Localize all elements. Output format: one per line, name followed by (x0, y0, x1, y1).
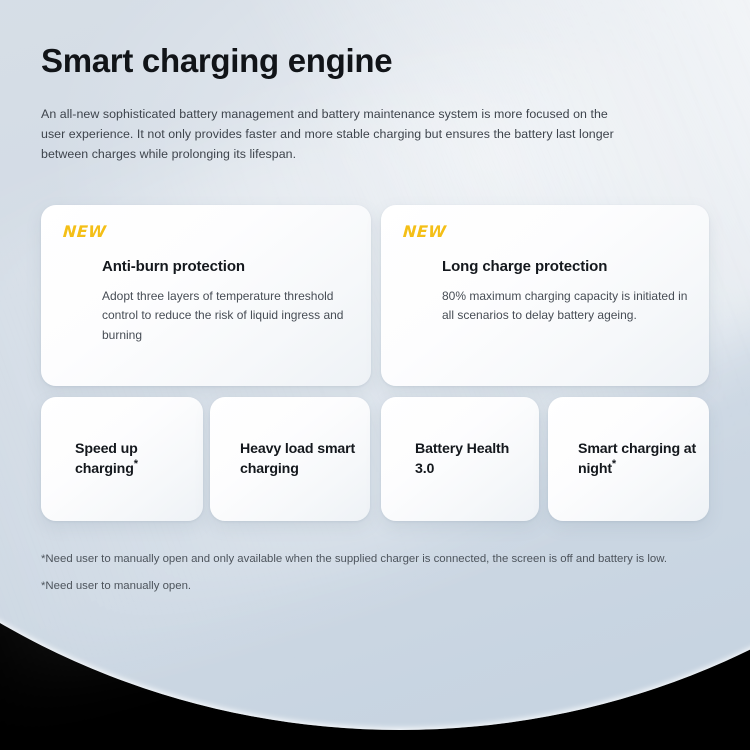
feature-card-description: 80% maximum charging capacity is initiat… (442, 287, 692, 326)
small-card-text: Battery Health 3.0 (415, 441, 509, 477)
small-card-heavy-load-smart-charging[interactable]: Heavy load smart charging (210, 397, 370, 521)
intro-paragraph: An all-new sophisticated battery managem… (41, 104, 621, 164)
small-card-label: Smart charging at night* (578, 439, 697, 479)
small-card-smart-charging-at-night[interactable]: Smart charging at night* (548, 397, 709, 521)
asterisk-marker: * (134, 458, 138, 470)
page-title: Smart charging engine (41, 43, 392, 80)
small-card-text: Smart charging at night (578, 441, 696, 477)
small-card-label: Speed up charging* (75, 439, 191, 479)
feature-card-description: Adopt three layers of temperature thresh… (102, 287, 352, 345)
footnote-2: *Need user to manually open. (41, 578, 713, 596)
footnote-1: *Need user to manually open and only ava… (41, 551, 713, 569)
small-card-label: Heavy load smart charging (240, 439, 358, 479)
small-card-speed-up-charging[interactable]: Speed up charging* (41, 397, 203, 521)
feature-card-long-charge[interactable]: NEW Long charge protection 80% maximum c… (381, 205, 709, 386)
feature-card-title: Anti-burn protection (102, 258, 245, 275)
asterisk-marker: * (612, 458, 616, 470)
feature-card-anti-burn[interactable]: NEW Anti-burn protection Adopt three lay… (41, 205, 371, 386)
small-card-label: Battery Health 3.0 (415, 439, 527, 479)
small-card-text: Heavy load smart charging (240, 441, 355, 477)
promo-slide: Smart charging engine An all-new sophist… (0, 0, 750, 750)
new-badge: NEW (62, 222, 107, 241)
small-card-text: Speed up charging (75, 441, 138, 477)
content-area: Smart charging engine An all-new sophist… (0, 0, 750, 750)
footnotes: *Need user to manually open and only ava… (41, 551, 713, 595)
new-badge: NEW (402, 222, 447, 241)
small-card-battery-health[interactable]: Battery Health 3.0 (381, 397, 539, 521)
feature-card-title: Long charge protection (442, 258, 607, 275)
